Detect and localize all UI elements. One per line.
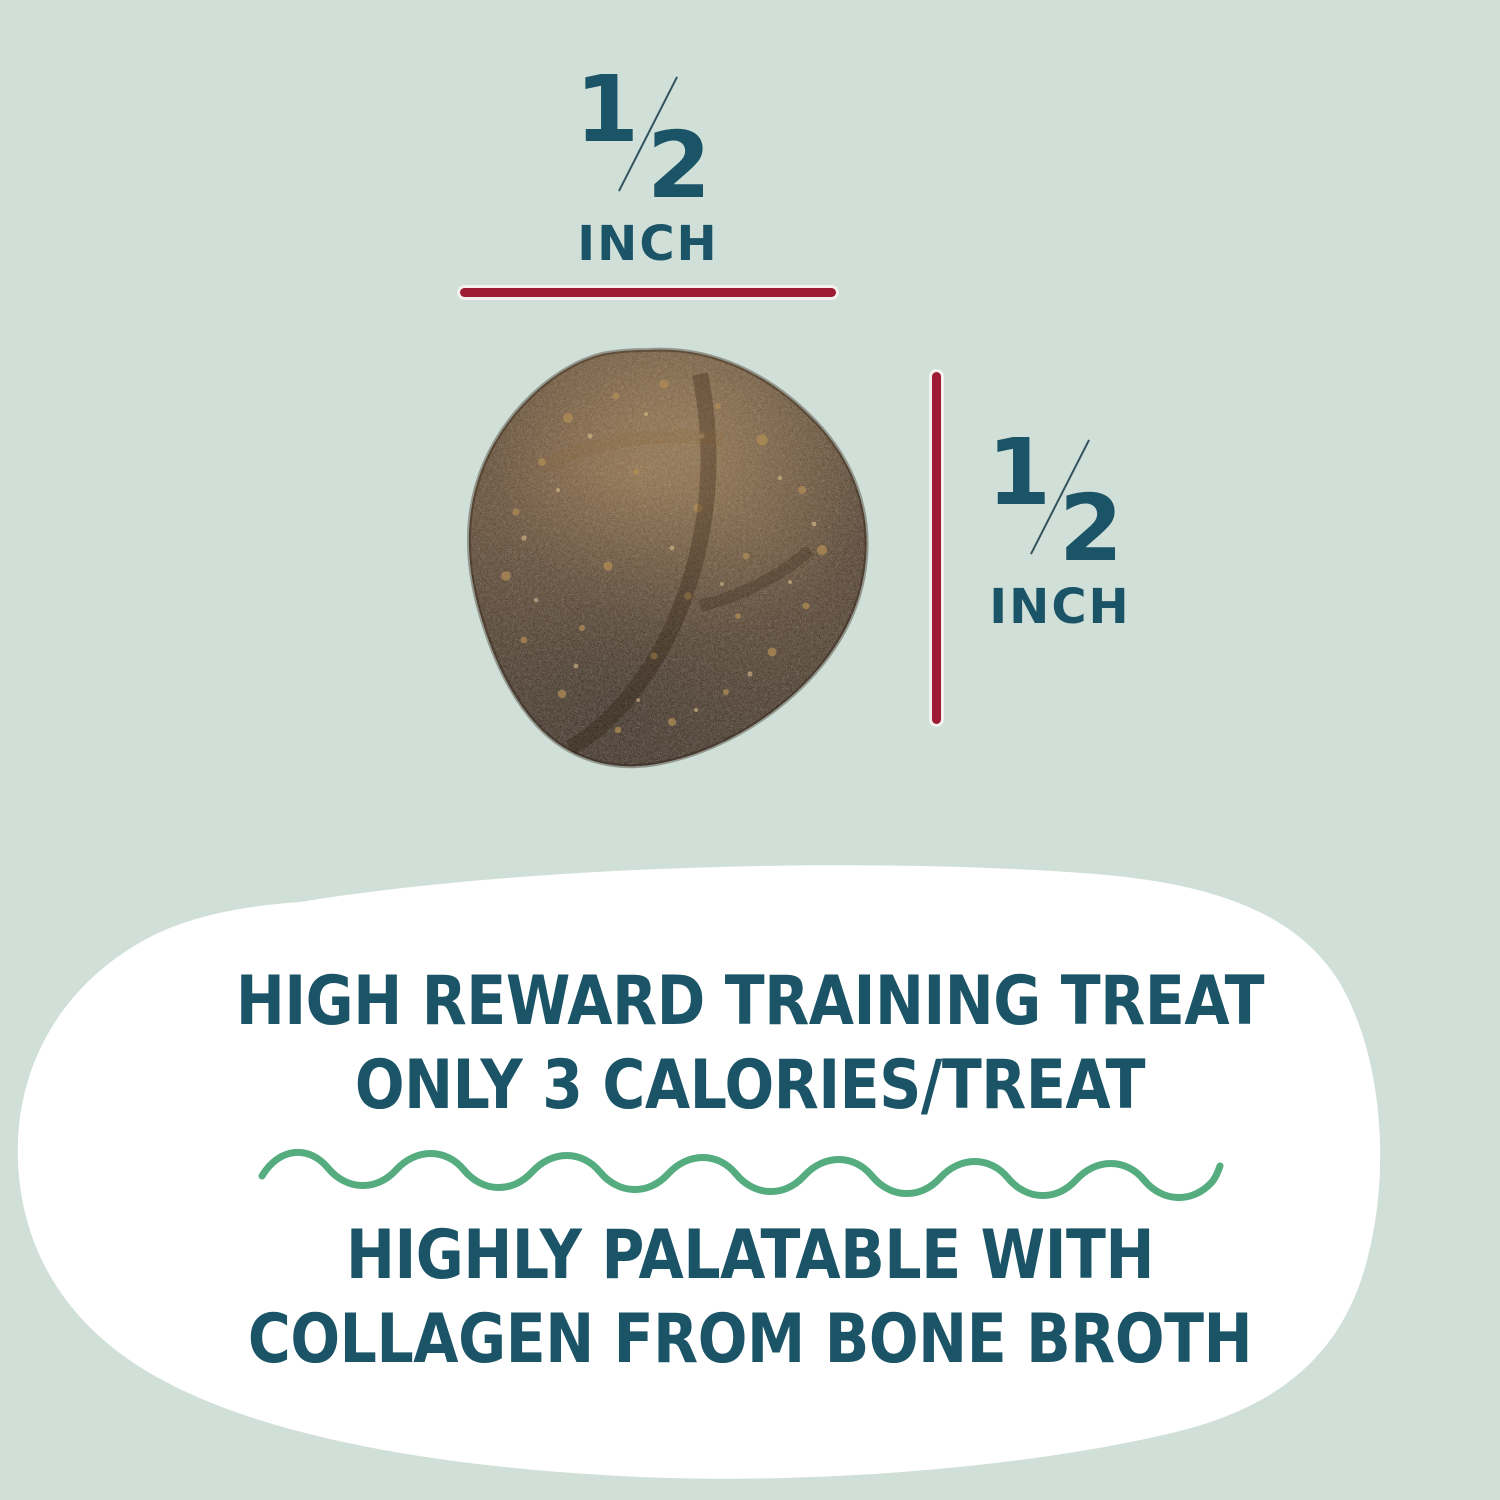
fraction-one-half-width: 1 2	[543, 62, 753, 212]
measurement-unit-height: INCH	[955, 579, 1165, 635]
fraction-one-half-height: 1 2	[955, 425, 1165, 575]
width-measurement-rule	[460, 288, 836, 297]
fraction-numerator: 1	[987, 427, 1049, 519]
measurement-label-height: 1 2 INCH	[955, 425, 1165, 635]
measurement-label-width: 1 2 INCH	[543, 62, 753, 272]
fraction-numerator: 1	[575, 64, 637, 156]
claim-secondary-line-1: HIGHLY PALATABLE WITH	[105, 1222, 1395, 1290]
fraction-denominator: 2	[1059, 483, 1121, 575]
wavy-divider-icon	[258, 1136, 1224, 1208]
claim-primary-line-2: ONLY 3 CALORIES/TREAT	[105, 1052, 1395, 1120]
claim-primary: HIGH REWARD TRAINING TREAT ONLY 3 CALORI…	[0, 968, 1500, 1120]
treat-body	[450, 344, 886, 780]
height-measurement-rule	[932, 372, 941, 724]
claim-primary-line-1: HIGH REWARD TRAINING TREAT	[105, 968, 1395, 1036]
infographic-canvas: 1 2 INCH 1 2 INCH	[0, 0, 1500, 1500]
fraction-denominator: 2	[647, 120, 709, 212]
claim-secondary-line-2: COLLAGEN FROM BONE BROTH	[105, 1306, 1395, 1374]
product-treat-image	[450, 344, 886, 780]
measurement-unit-width: INCH	[543, 216, 753, 272]
claim-secondary: HIGHLY PALATABLE WITH COLLAGEN FROM BONE…	[0, 1222, 1500, 1374]
